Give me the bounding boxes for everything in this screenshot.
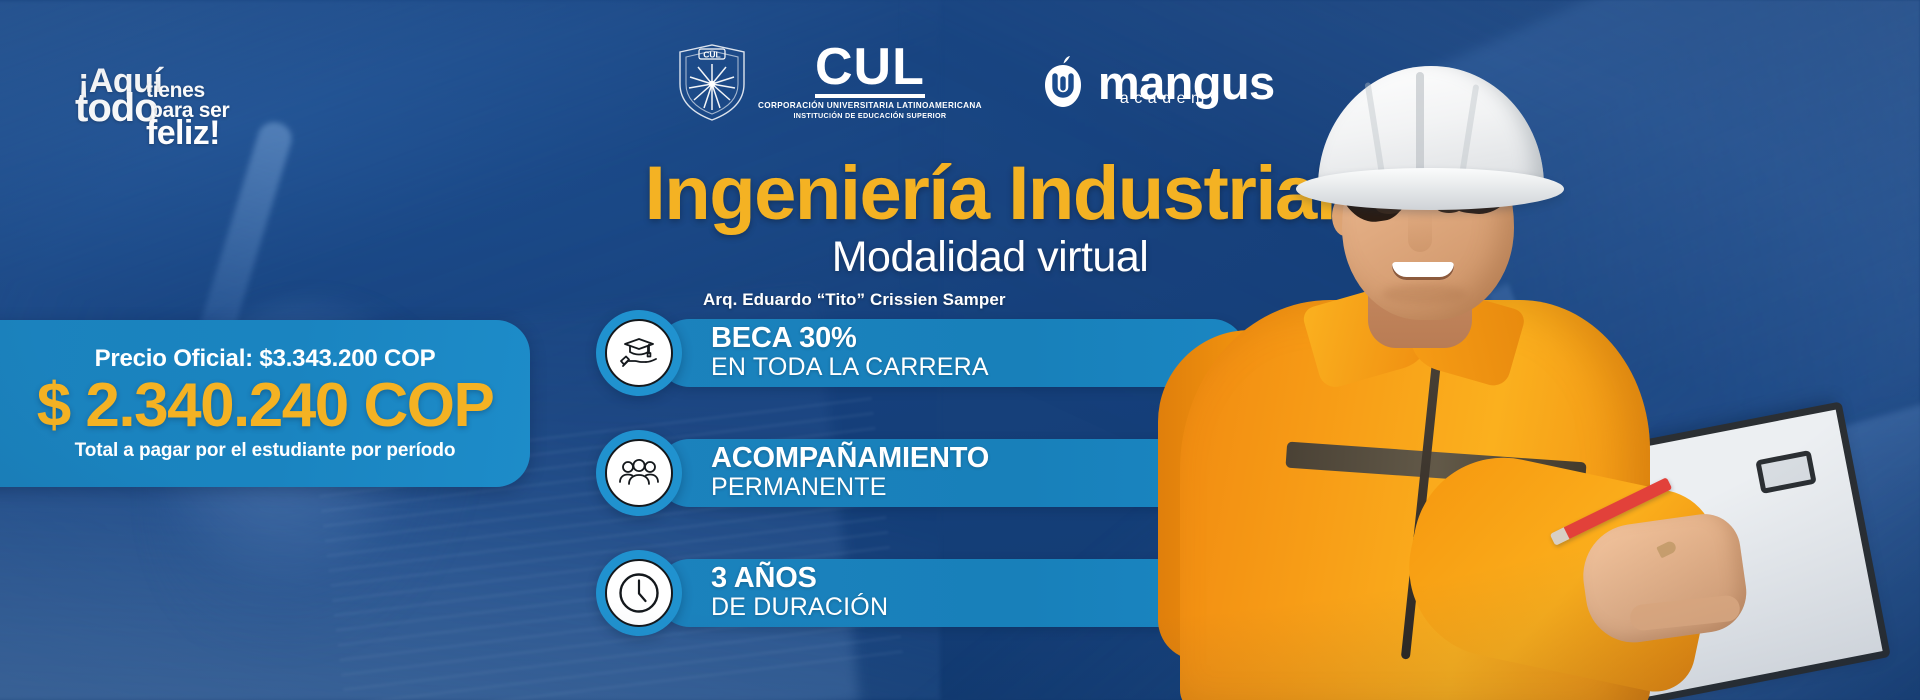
program-promo-banner: ¡Aquí tienes todo para ser feliz! CUL [0,0,1920,700]
vignette-overlay [0,0,1920,700]
